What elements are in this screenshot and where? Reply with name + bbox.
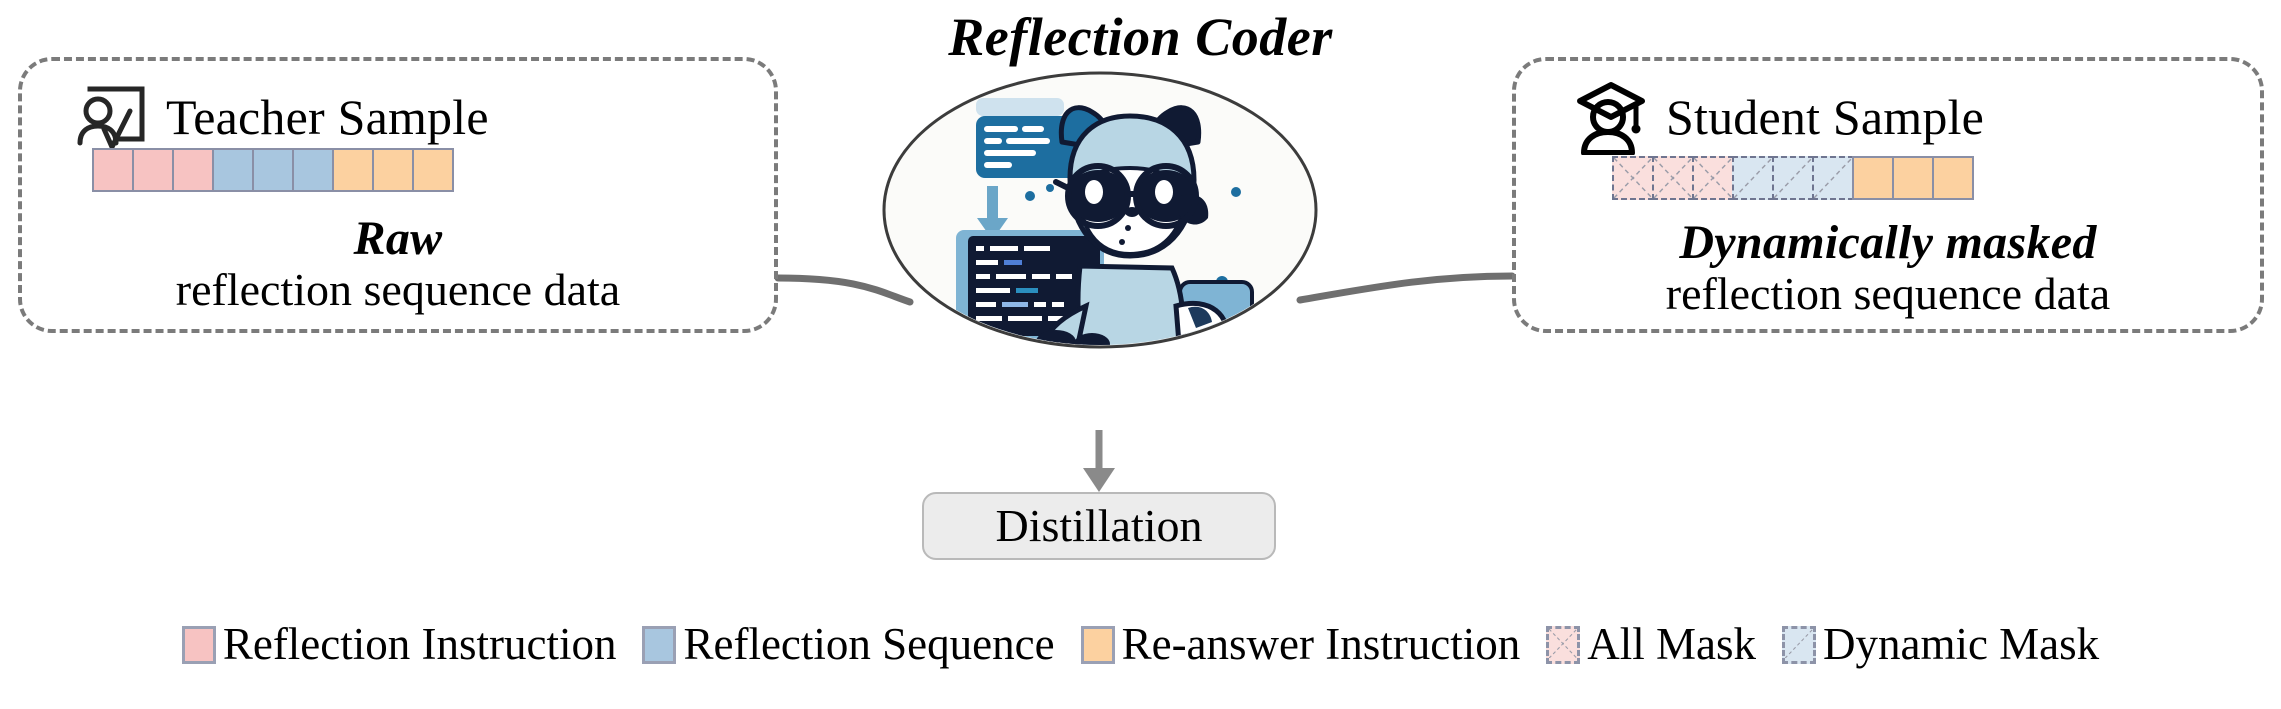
legend-item: Reflection Sequence: [642, 622, 1054, 667]
legend-label: All Mask: [1587, 622, 1756, 667]
legend-label: Dynamic Mask: [1823, 622, 2099, 667]
token-cell-reflection-instruction: [1692, 156, 1734, 200]
student-panel-title: Student Sample: [1666, 92, 1984, 142]
token-cell-reflection-sequence: [252, 148, 294, 192]
distillation-box[interactable]: Distillation: [922, 492, 1276, 560]
legend-swatch: [642, 626, 676, 664]
token-cell-reflection-sequence: [1772, 156, 1814, 200]
legend-swatch: [1546, 626, 1580, 664]
legend-item: Dynamic Mask: [1782, 622, 2099, 667]
teacher-caption: Raw reflection sequence data: [18, 214, 778, 314]
token-cell-reflection-sequence: [212, 148, 254, 192]
token-cell-re-answer-instruction: [412, 148, 454, 192]
legend-swatch: [1782, 626, 1816, 664]
token-cell-re-answer-instruction: [332, 148, 374, 192]
teacher-caption-emphasis: Raw: [18, 214, 778, 264]
teacher-panel-title: Teacher Sample: [166, 92, 489, 142]
legend-label: Re-answer Instruction: [1122, 622, 1521, 667]
student-caption-emphasis: Dynamically masked: [1512, 218, 2264, 268]
student-token-strip: [1612, 156, 1974, 200]
cross-hatch-icon: [1694, 158, 1732, 198]
distillation-label: Distillation: [996, 503, 1203, 549]
legend-item: Re-answer Instruction: [1081, 622, 1521, 667]
legend-swatch: [1081, 626, 1115, 664]
raccoon-coder-illustration: [880, 70, 1320, 350]
slash-hatch-icon: [1785, 629, 1813, 658]
token-cell-reflection-sequence: [1732, 156, 1774, 200]
token-cell-reflection-instruction: [92, 148, 134, 192]
legend-label: Reflection Instruction: [223, 622, 617, 667]
token-cell-re-answer-instruction: [1852, 156, 1894, 200]
student-panel-header: Student Sample: [1574, 79, 1984, 155]
cross-hatch-icon: [1614, 158, 1652, 198]
slash-hatch-icon: [1774, 158, 1812, 198]
teacher-presentation-icon: [74, 79, 148, 155]
teacher-caption-sub: reflection sequence data: [18, 266, 778, 314]
slash-hatch-icon: [1814, 158, 1852, 198]
token-cell-re-answer-instruction: [1932, 156, 1974, 200]
token-cell-reflection-instruction: [132, 148, 174, 192]
token-cell-re-answer-instruction: [372, 148, 414, 192]
legend-swatch: [182, 626, 216, 664]
legend: Reflection InstructionReflection Sequenc…: [0, 622, 2281, 667]
legend-item: Reflection Instruction: [182, 622, 617, 667]
cross-hatch-icon: [1549, 629, 1577, 658]
token-cell-reflection-sequence: [1812, 156, 1854, 200]
slash-hatch-icon: [1734, 158, 1772, 198]
teacher-token-strip: [92, 148, 454, 192]
graduate-student-icon: [1574, 79, 1648, 155]
token-cell-reflection-instruction: [1612, 156, 1654, 200]
teacher-panel-header: Teacher Sample: [74, 79, 489, 155]
token-cell-reflection-sequence: [292, 148, 334, 192]
token-cell-reflection-instruction: [1652, 156, 1694, 200]
token-cell-re-answer-instruction: [1892, 156, 1934, 200]
legend-label: Reflection Sequence: [683, 622, 1054, 667]
student-caption: Dynamically masked reflection sequence d…: [1512, 218, 2264, 318]
legend-item: All Mask: [1546, 622, 1756, 667]
student-caption-sub: reflection sequence data: [1512, 270, 2264, 318]
token-cell-reflection-instruction: [172, 148, 214, 192]
cross-hatch-icon: [1654, 158, 1692, 198]
